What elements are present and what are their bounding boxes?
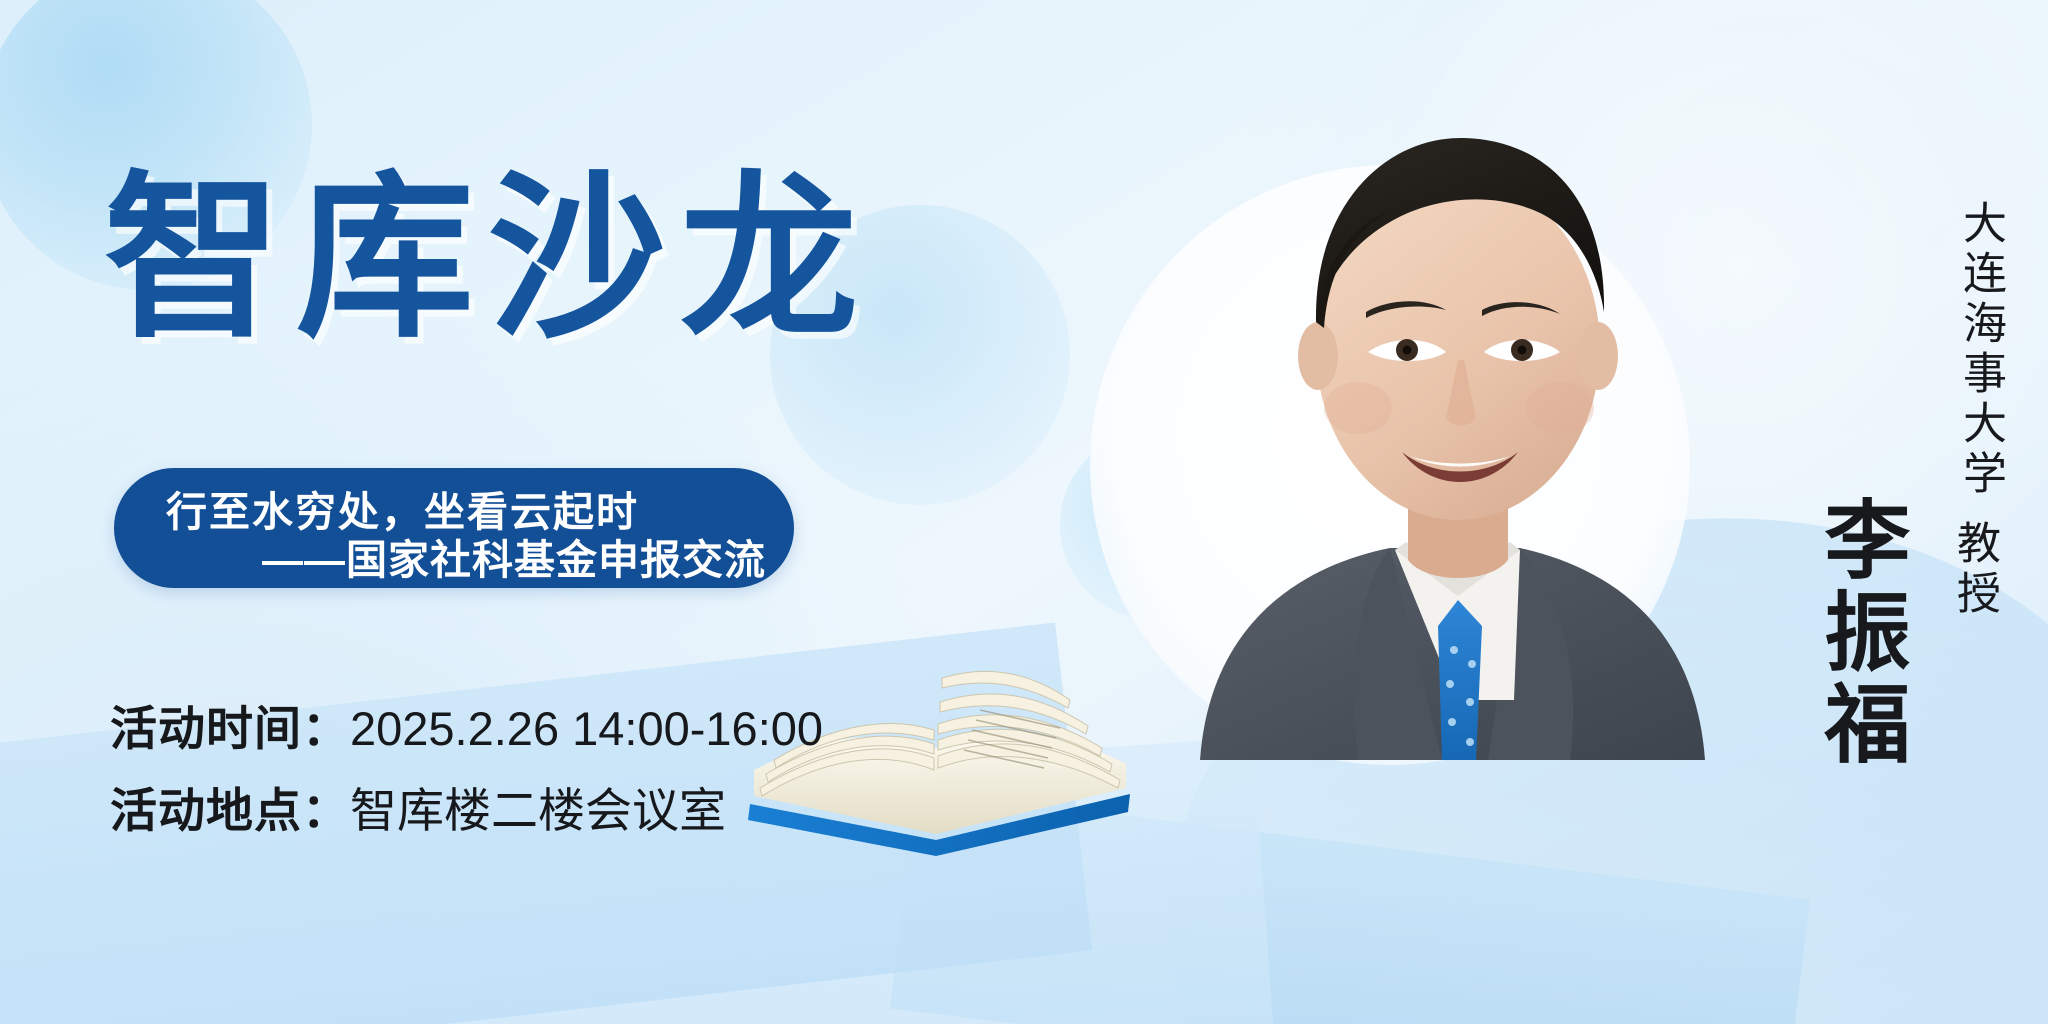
event-place-row: 活动地点：智库楼二楼会议室 [110, 772, 726, 841]
event-poster: 智库沙龙 行至水穷处，坐看云起时 ——国家社科基金申报交流 活动时间：2025.… [0, 0, 2048, 1024]
speaker-portrait-image [1090, 60, 1750, 760]
speaker-university: 大连海事大学 [1948, 200, 2012, 500]
page-title: 智库沙龙 [104, 170, 872, 348]
event-time-row: 活动时间：2025.2.26 14:00-16:00 [110, 690, 823, 759]
speaker-portrait-container [1090, 60, 1750, 760]
event-place-label: 活动地点： [110, 784, 350, 837]
event-time-value: 2025.2.26 14:00-16:00 [350, 702, 823, 755]
speaker-title: 教授 [1942, 520, 2006, 620]
subtitle-line-2: ——国家社科基金申报交流 [114, 526, 766, 586]
subtitle-banner: 行至水穷处，坐看云起时 ——国家社科基金申报交流 [114, 468, 794, 588]
event-time-label: 活动时间： [110, 702, 350, 755]
event-place-value: 智库楼二楼会议室 [350, 784, 726, 837]
speaker-name: 李振福 [1797, 495, 1922, 771]
